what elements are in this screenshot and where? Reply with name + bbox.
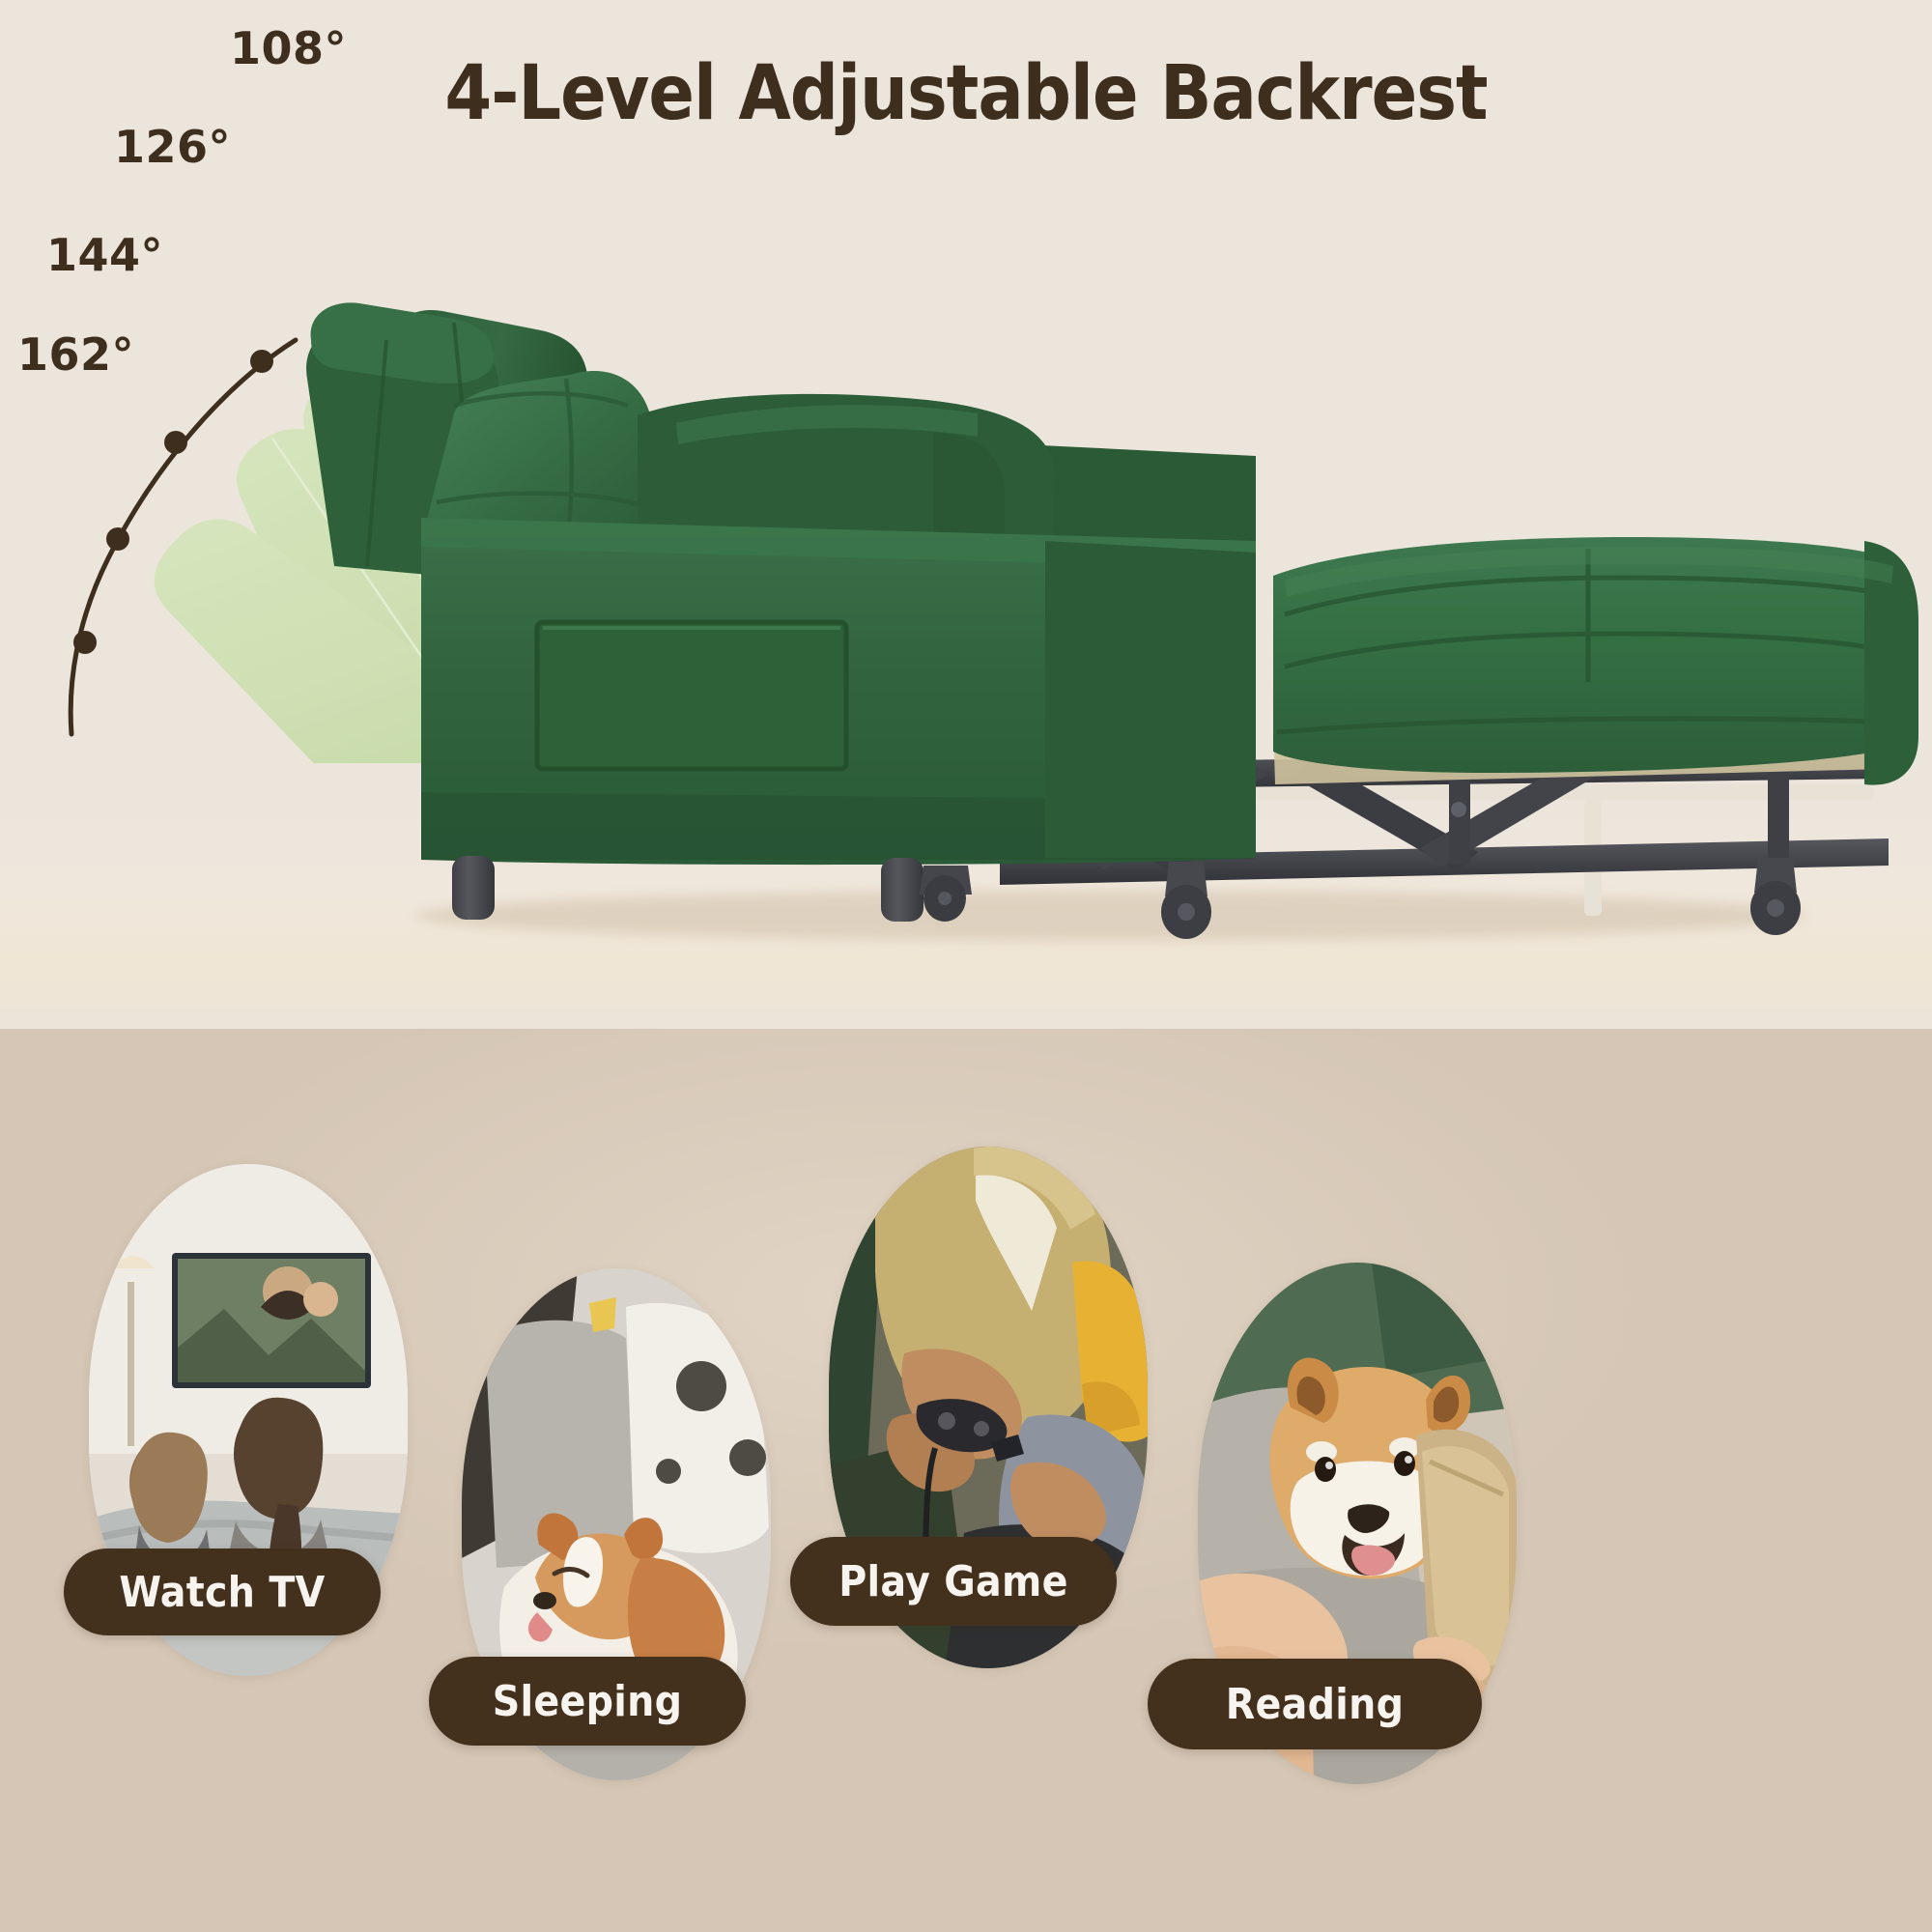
- extended-bed-section: [1273, 537, 1918, 785]
- infographic-root: 4-Level Adjustable Backrest: [0, 0, 1932, 1932]
- use-cases-panel: Watch TV: [0, 1029, 1932, 1932]
- feature-label-reading: Reading: [1226, 1680, 1405, 1729]
- feature-badge-play-game[interactable]: Play Game: [790, 1537, 1117, 1626]
- feature-play-game[interactable]: Play Game: [829, 1147, 1148, 1668]
- feature-watch-tv[interactable]: Watch TV: [89, 1164, 408, 1676]
- feature-badge-watch-tv[interactable]: Watch TV: [64, 1548, 381, 1635]
- feature-label-play-game: Play Game: [838, 1557, 1067, 1606]
- feature-label-watch-tv: Watch TV: [119, 1568, 325, 1617]
- feature-reading[interactable]: Reading: [1198, 1263, 1517, 1784]
- sofa-main-body: [306, 302, 1256, 865]
- feature-label-sleeping: Sleeping: [493, 1677, 683, 1726]
- sofa-bed-illustration: [0, 0, 1932, 1029]
- feature-sleeping[interactable]: Sleeping: [462, 1268, 771, 1780]
- side-storage-pocket: [537, 622, 846, 769]
- feature-badge-sleeping[interactable]: Sleeping: [429, 1657, 746, 1746]
- feature-badge-reading[interactable]: Reading: [1148, 1659, 1482, 1749]
- top-panel: 4-Level Adjustable Backrest: [0, 0, 1932, 1029]
